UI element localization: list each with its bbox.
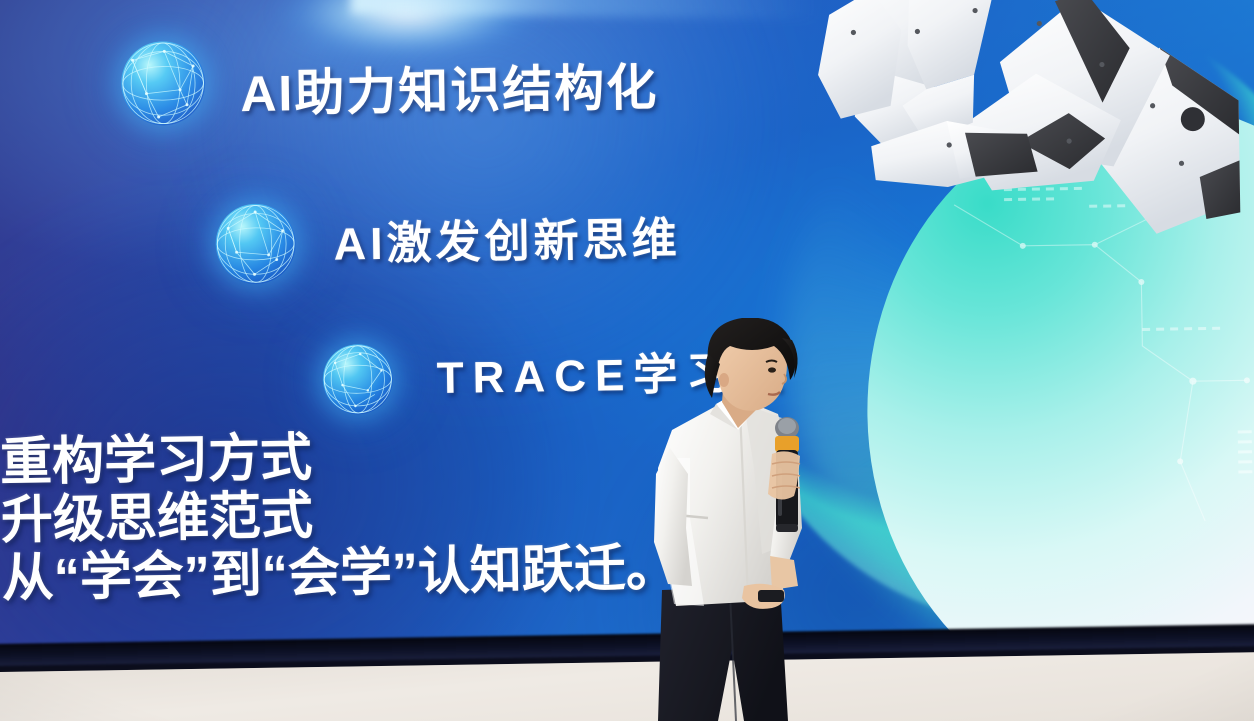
robot-hand-icon	[766, 0, 1252, 318]
presenter-with-microphone	[612, 318, 912, 721]
network-sphere-icon	[120, 41, 205, 126]
headline-line-1: 重构学习方式	[0, 423, 676, 492]
presentation-clicker	[758, 590, 784, 602]
slide-bullet-1: AI助力知识结构化	[240, 48, 659, 127]
headline-line-2: 升级思维范式	[1, 481, 678, 550]
network-sphere-icon	[322, 344, 393, 415]
presentation-photo: AI助力知识结构化 AI激发创新思维 TRACE学习法 重构学习方式 升级思维范…	[0, 0, 1254, 721]
network-sphere-icon	[215, 203, 296, 284]
headline-line-3: 从“学会”到“会学”认知跃迁。	[1, 539, 678, 608]
slide-bullet-2: AI激发创新思维	[333, 202, 681, 272]
slide-headline: 重构学习方式 升级思维范式 从“学会”到“会学”认知跃迁。	[0, 423, 678, 608]
